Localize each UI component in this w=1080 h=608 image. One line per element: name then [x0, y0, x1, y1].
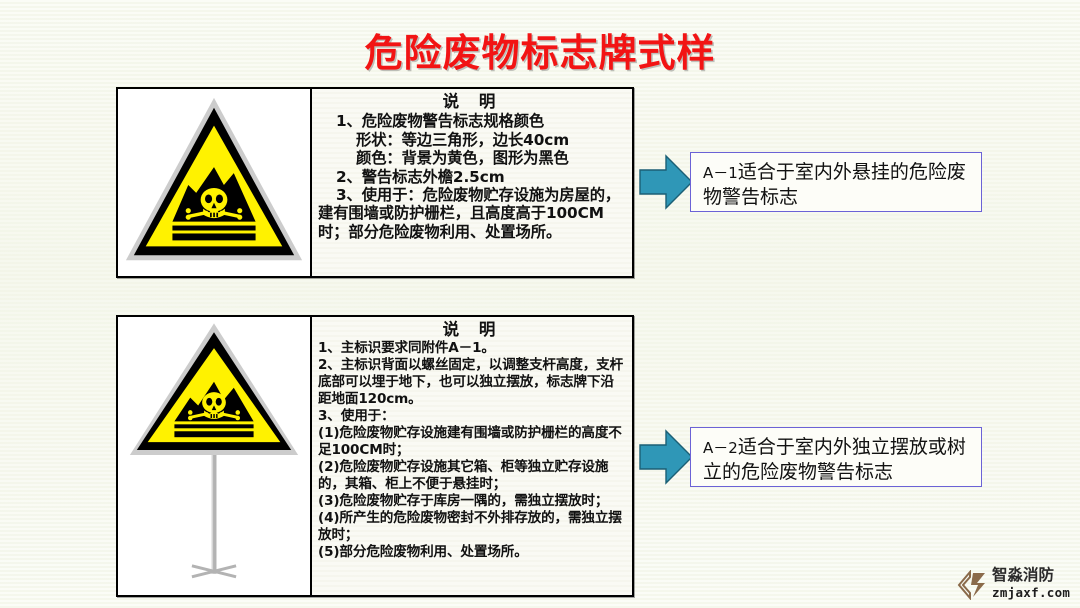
panel-a2-line-3: 3、使用于： — [318, 408, 627, 425]
panel-a1-text: 说 明 1、危险废物警告标志规格颜色 形状：等边三角形，边长40cm 颜色：背景… — [312, 89, 632, 276]
callout-a1-text: 适合于室内外悬挂的危险废物警告标志 — [703, 161, 966, 208]
sign-illustration-a1 — [118, 89, 312, 276]
callout-a1-code: A－1 — [703, 164, 738, 182]
panel-a1-line-5: 3、使用于：危险废物贮存设施为房屋的，建有围墙或防护栅栏，且高度高于100CM时… — [318, 186, 627, 241]
callout-a1: A－1适合于室内外悬挂的危险废物警告标志 — [690, 152, 982, 212]
panel-a1-line-3: 颜色：背景为黄色，图形为黑色 — [318, 149, 627, 167]
panel-a2-line-5: (2)危险废物贮存设施其它箱、柜等独立贮存设施的，其箱、柜上不便于悬挂时； — [318, 459, 627, 493]
page-title: 危险废物标志牌式样 — [0, 22, 1080, 77]
panel-a2-text: 说 明 1、主标识要求同附件A－1。 2、主标识背面以螺丝固定，以调整支杆高度，… — [312, 317, 632, 595]
brand-url: zmjaxf.com — [992, 585, 1070, 600]
brand-name: 智淼消防 — [992, 567, 1054, 583]
panel-a2-line-4: (1)危险废物贮存设施建有围墙或防护栅栏的高度不足100CM时； — [318, 425, 627, 459]
panel-a2-line-1: 1、主标识要求同附件A－1。 — [318, 340, 627, 357]
panel-a1-heading: 说 明 — [318, 92, 627, 111]
panel-a2-line-6: (3)危险废物贮存于库房一隅的，需独立摆放时； — [318, 493, 627, 510]
callout-a2-text: 适合于室内外独立摆放或树立的危险废物警告标志 — [703, 436, 966, 483]
hazardous-waste-warning-sign-icon — [118, 89, 310, 276]
arrow-right-icon-a1 — [638, 153, 694, 211]
callout-a2: A－2适合于室内外独立摆放或树立的危险废物警告标志 — [690, 427, 982, 487]
panel-a2-line-8: (5)部分危险废物利用、处置场所。 — [318, 544, 627, 561]
watermark-logo: 智淼消防 zmjaxf.com — [956, 567, 1074, 603]
sign-pole-icon — [192, 453, 237, 578]
callout-a2-code: A－2 — [703, 439, 738, 457]
sign-illustration-a2 — [118, 317, 312, 595]
hazardous-waste-warning-sign-on-pole-icon — [118, 317, 310, 595]
panel-a1: 说 明 1、危险废物警告标志规格颜色 形状：等边三角形，边长40cm 颜色：背景… — [116, 87, 634, 278]
brand-mark-icon — [956, 570, 988, 600]
panel-a1-line-4: 2、警告标志外檐2.5cm — [318, 168, 627, 186]
arrow-right-icon-a2 — [638, 428, 694, 486]
panel-a1-line-1: 1、危险废物警告标志规格颜色 — [318, 112, 627, 130]
slide-canvas: 危险废物标志牌式样 — [0, 0, 1080, 608]
panel-a2-heading: 说 明 — [318, 320, 627, 339]
panel-a2-line-2: 2、主标识背面以螺丝固定，以调整支杆高度，支杆底部可以埋于地下，也可以独立摆放，… — [318, 357, 627, 408]
panel-a2-line-7: (4)所产生的危险废物密封不外排存放的，需独立摆放时； — [318, 510, 627, 544]
panel-a1-body: 1、危险废物警告标志规格颜色 形状：等边三角形，边长40cm 颜色：背景为黄色，… — [318, 112, 627, 240]
panel-a2: 说 明 1、主标识要求同附件A－1。 2、主标识背面以螺丝固定，以调整支杆高度，… — [116, 315, 634, 597]
panel-a2-body: 1、主标识要求同附件A－1。 2、主标识背面以螺丝固定，以调整支杆高度，支杆底部… — [318, 340, 627, 560]
panel-a1-line-2: 形状：等边三角形，边长40cm — [318, 131, 627, 149]
